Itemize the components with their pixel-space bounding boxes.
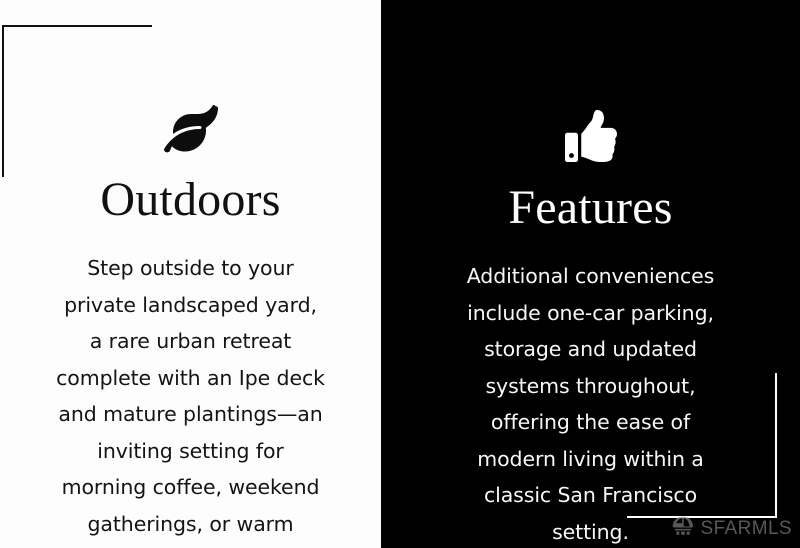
- sfarmls-logo-icon: [671, 515, 695, 542]
- body-line: Mission nights.: [41, 542, 341, 548]
- page-title-features: Features: [508, 184, 672, 232]
- body-line: morning coffee, weekend: [41, 469, 341, 506]
- sfarmls-watermark: SFARMLS: [671, 515, 793, 542]
- thumbs-up-icon: [565, 110, 617, 162]
- page-title-outdoors: Outdoors: [100, 176, 280, 224]
- body-line: gatherings, or warm: [41, 506, 341, 543]
- card-body-outdoors: Step outside to your private landscaped …: [41, 250, 341, 548]
- body-line: include one-car parking,: [436, 295, 746, 332]
- leaf-icon: [164, 104, 218, 154]
- body-line: inviting setting for: [41, 433, 341, 470]
- body-line: complete with an Ipe deck: [41, 360, 341, 397]
- body-line: private landscaped yard,: [41, 287, 341, 324]
- body-line: Additional conveniences: [436, 258, 746, 295]
- body-line: Step outside to your: [41, 250, 341, 287]
- body-line: a rare urban retreat: [41, 323, 341, 360]
- body-line: storage and updated: [436, 331, 746, 368]
- sfarmls-label: SFARMLS: [701, 518, 793, 540]
- card-outdoors: Outdoors Step outside to your private la…: [0, 0, 381, 548]
- bracket-vertical-rule: [775, 373, 777, 518]
- feature-cards-board: Outdoors Step outside to your private la…: [0, 0, 800, 548]
- body-line: and mature plantings—an: [41, 396, 341, 433]
- corner-bracket-bottom-right: [627, 373, 777, 518]
